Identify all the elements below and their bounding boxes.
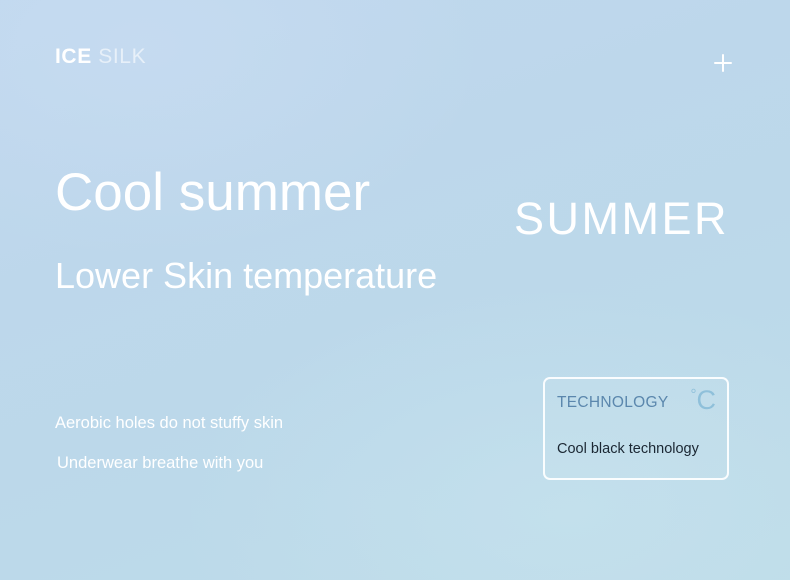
plus-icon[interactable]	[710, 50, 736, 76]
brand-name-secondary: SILK	[98, 45, 146, 68]
brand-name-primary: ICE	[55, 45, 92, 68]
technology-card-description: Cool black technology	[557, 442, 699, 457]
temperature-unit-icon: °C	[691, 387, 717, 414]
technology-card-header: TECHNOLOGY °C	[557, 393, 717, 419]
feature-line-1: Aerobic holes do not stuffy skin	[55, 415, 475, 432]
hero-headline: Cool summer	[55, 166, 370, 219]
brand-logo[interactable]: ICE SILK	[55, 46, 146, 67]
feature-list: Aerobic holes do not stuffy skin Underwe…	[55, 415, 475, 471]
hero-accent-word: SUMMER	[514, 196, 729, 241]
promo-banner: ICE SILK Cool summer SUMMER Lower Skin t…	[0, 0, 790, 580]
technology-card-label: TECHNOLOGY	[557, 395, 669, 411]
feature-line-2: Underwear breathe with you	[57, 455, 475, 472]
hero-subheadline: Lower Skin temperature	[55, 258, 437, 294]
plus-icon-vertical-bar	[722, 54, 724, 72]
celsius-letter: C	[697, 385, 717, 415]
banner-header: ICE SILK	[0, 0, 790, 120]
technology-card[interactable]: TECHNOLOGY °C Cool black technology	[543, 377, 729, 480]
